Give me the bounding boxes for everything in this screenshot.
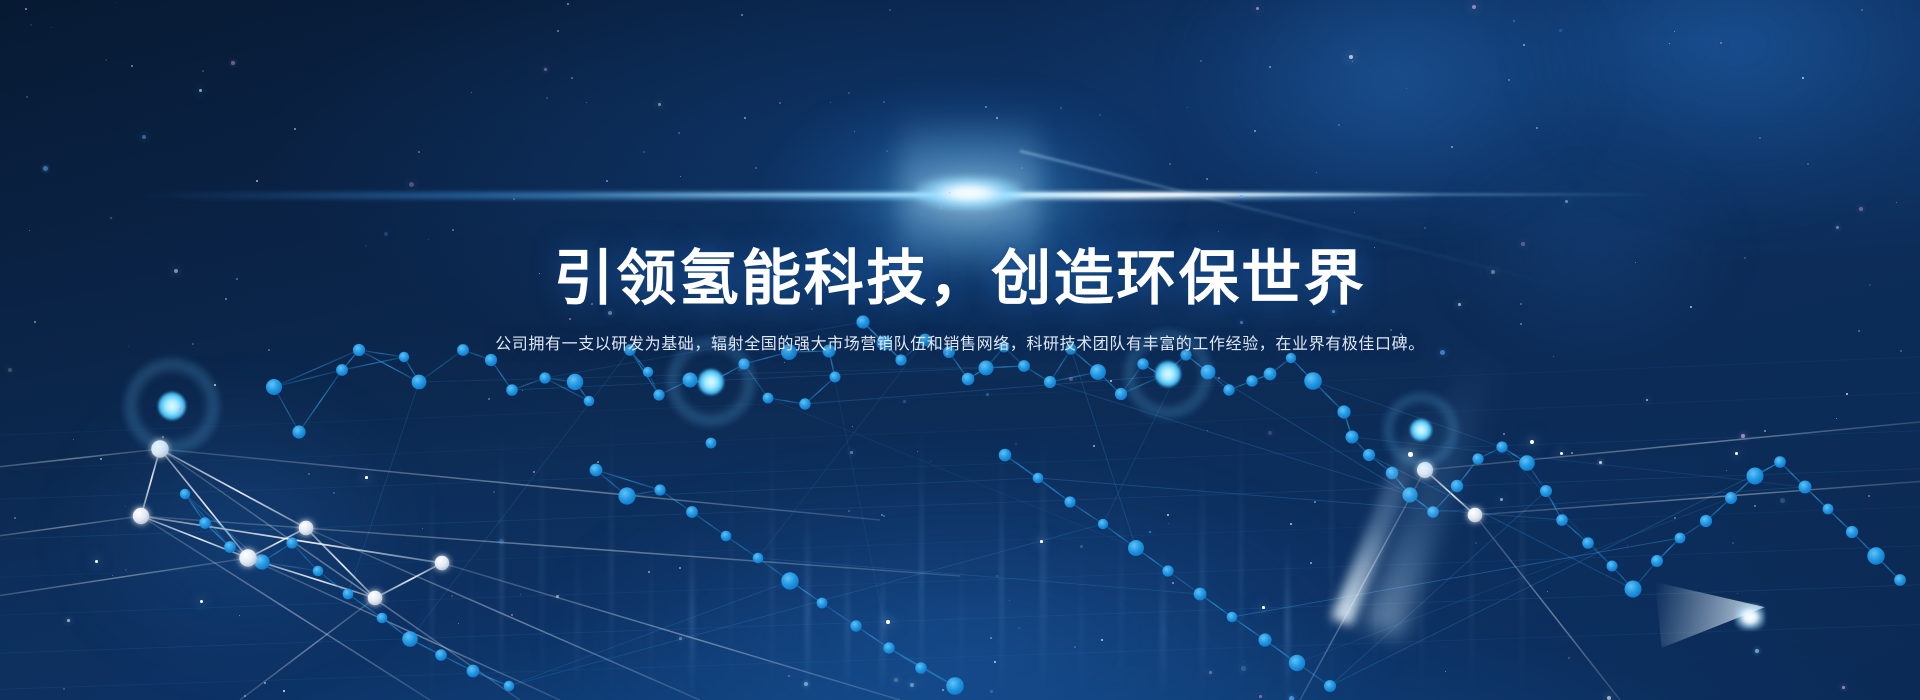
light-ray (770, 419, 774, 700)
flare-core (916, 176, 1022, 210)
particle-speck (1869, 284, 1871, 286)
mesh-edge (185, 494, 205, 523)
mesh-edge (884, 343, 901, 360)
mesh-node-blue (999, 342, 1010, 353)
mesh-edge (0, 624, 1920, 690)
mesh-node-blue (1451, 480, 1463, 492)
mesh-edge (1344, 412, 1352, 437)
mesh-node-blue (643, 367, 653, 377)
mesh-node-blue (702, 378, 715, 391)
particle-speck (1900, 350, 1902, 352)
light-ray (1375, 483, 1377, 700)
particle-speck (1338, 124, 1340, 126)
mesh-node-blue (946, 677, 964, 695)
mesh-edge (1330, 462, 1780, 686)
particle-speck (1216, 288, 1218, 290)
mesh-node-blue (1700, 515, 1712, 527)
particle-speck (1520, 323, 1522, 325)
mesh-edge (205, 523, 230, 547)
particle-speck (1491, 270, 1495, 274)
mesh-node-blue (1556, 514, 1568, 526)
mesh-edge (1657, 538, 1680, 561)
particle-speck (567, 3, 569, 5)
mesh-edge (692, 512, 726, 536)
mesh-node-blue (1201, 365, 1216, 380)
mesh-edge (512, 378, 545, 390)
comet-tail-outer (1363, 343, 1503, 639)
particle-speck (499, 539, 504, 544)
mesh-node-blue (1472, 453, 1483, 464)
mesh-node-blue (590, 464, 603, 477)
mesh-edge (0, 449, 160, 470)
mesh-node-blue (1044, 376, 1056, 388)
mesh-node-blue (999, 449, 1012, 462)
mesh-edge (0, 558, 248, 600)
mesh-edge (274, 387, 299, 432)
particle-speck (1290, 523, 1292, 525)
mesh-node-white (1417, 462, 1433, 478)
mesh-node-blue (1386, 467, 1399, 480)
mesh-node-blue (781, 572, 798, 589)
particle-speck (738, 367, 742, 371)
mesh-edge (630, 350, 659, 395)
glow-node-halo (123, 357, 221, 455)
mesh-node-blue (1823, 504, 1834, 515)
network-mesh-graphic (0, 0, 1920, 700)
particle-speck (784, 362, 785, 363)
mesh-edge (0, 545, 1920, 616)
particle-speck (1343, 254, 1345, 256)
page-subtitle: 公司拥有一支以研发为基础，辐射全国的强大市场营销队伍和销售网络，科研技术团队有丰… (0, 334, 1920, 356)
mesh-edge (925, 340, 949, 352)
particle-speck (1200, 60, 1202, 62)
mesh-node-white (435, 556, 449, 570)
particle-speck (1674, 31, 1675, 32)
mesh-node-blue (962, 373, 975, 386)
mesh-edge (768, 398, 1136, 548)
particle-speck (544, 68, 547, 71)
light-ray (880, 554, 885, 700)
mesh-edge (758, 558, 1200, 594)
mesh-node-blue (721, 531, 732, 542)
particle-speck (25, 8, 27, 10)
mesh-node-blue (1223, 384, 1234, 395)
particle-speck (513, 198, 515, 200)
particle-speck (850, 451, 853, 454)
particle-speck (678, 132, 680, 134)
mesh-node-blue (506, 384, 518, 396)
glow-node-halo (666, 337, 757, 428)
light-ray (1470, 482, 1473, 700)
mesh-edge (627, 490, 660, 496)
mesh-edge (348, 382, 419, 594)
mesh-edge (1352, 437, 1369, 455)
banner-copy: 引领氢能科技，创造环保世界 公司拥有一支以研发为基础，辐射全国的强大市场营销队伍… (0, 0, 1920, 700)
particle-speck (1268, 431, 1272, 435)
mesh-edge (1291, 358, 1313, 381)
mesh-node-blue (1162, 565, 1173, 576)
bright-star (1530, 440, 1534, 444)
particle-speck (1764, 430, 1766, 432)
mesh-edge (1330, 491, 1546, 686)
mesh-edge (274, 350, 359, 387)
particle-speck (8, 368, 12, 372)
mesh-node-blue (504, 681, 515, 692)
particle-speck (606, 180, 608, 182)
light-ray (1000, 444, 1003, 700)
mesh-edge (648, 372, 659, 395)
mesh-node-blue (1090, 364, 1106, 380)
mesh-edge (441, 655, 473, 671)
mesh-node-blue (1064, 496, 1075, 507)
mesh-node-white (151, 440, 168, 457)
particle-speck (848, 92, 850, 94)
particle-speck (1093, 445, 1095, 447)
mesh-edge (1369, 455, 1633, 589)
glow-node (1123, 329, 1214, 420)
bright-star (1262, 606, 1265, 609)
mesh-node-blue (915, 662, 927, 674)
mesh-edge (659, 380, 690, 395)
mesh-node-blue (943, 346, 955, 358)
mesh-edge (306, 528, 375, 598)
mesh-edge (805, 377, 835, 404)
mesh-edge (726, 536, 758, 558)
particle-speck (418, 151, 420, 153)
light-ray (1080, 544, 1083, 700)
mesh-edge (856, 626, 889, 648)
mesh-edge (509, 581, 790, 686)
particle-speck (1868, 495, 1870, 497)
particle-speck (1565, 200, 1568, 203)
particle-speck (811, 308, 813, 310)
mesh-node-blue (224, 541, 236, 553)
light-ray (1120, 478, 1123, 700)
particle-speck (493, 491, 495, 493)
flare-vertical-spike (900, 110, 1040, 280)
particle-speck (1069, 377, 1073, 381)
mesh-node-blue (266, 379, 282, 395)
mesh-edge (1313, 381, 1344, 412)
mesh-node-blue (919, 334, 932, 347)
particle-speck (1568, 657, 1570, 659)
glow-node-core (1155, 361, 1181, 387)
mesh-edge (1546, 491, 1562, 520)
particle-speck (1330, 611, 1331, 612)
particle-speck (990, 637, 992, 639)
mesh-edge (1433, 487, 1805, 512)
mesh-node-blue (584, 396, 595, 407)
particle-speck (1021, 167, 1023, 169)
light-ray (920, 424, 923, 700)
mesh-edge (410, 350, 630, 639)
mesh-edge (1828, 509, 1852, 532)
mesh-node-blue (1427, 506, 1439, 518)
particle-speck (452, 229, 454, 231)
mesh-edge (1121, 376, 1162, 394)
mesh-node-white (368, 591, 383, 606)
light-ray (650, 521, 652, 700)
particle-speck (162, 436, 164, 438)
particle-speck (917, 451, 918, 452)
page-title: 引领氢能科技，创造环保世界 (0, 249, 1920, 309)
mesh-edge (1527, 463, 1546, 491)
particle-speck (1169, 163, 1171, 165)
mesh-node-blue (1337, 405, 1350, 418)
mesh-node-blue (180, 489, 190, 499)
light-ray (610, 412, 613, 700)
particle-speck (1759, 137, 1761, 139)
particle-speck (986, 393, 989, 396)
mesh-edge (141, 516, 442, 563)
particle-speck (283, 690, 285, 692)
mesh-edge (630, 350, 648, 372)
mesh-edge (829, 351, 889, 648)
mesh-node-blue (1582, 537, 1594, 549)
mesh-edge (160, 449, 880, 520)
mesh-edge (359, 350, 419, 382)
particle-speck (1074, 646, 1076, 648)
mesh-edge (921, 668, 955, 686)
mesh-edge (758, 558, 790, 581)
mesh-edge (1300, 470, 1425, 700)
particle-speck (1349, 55, 1353, 59)
light-ray (730, 455, 732, 700)
particle-speck (128, 346, 129, 347)
mesh-edge (1755, 462, 1780, 476)
particle-speck (63, 688, 65, 690)
mesh-edge (1425, 470, 1475, 515)
light-ray (1160, 547, 1166, 700)
mesh-edge (1208, 372, 1410, 495)
particle-speck (131, 65, 133, 67)
mesh-edge (1706, 498, 1731, 521)
mesh-edge (473, 671, 509, 686)
mesh-edge (1475, 515, 1620, 700)
particle-speck (225, 298, 227, 300)
mesh-edge (240, 598, 375, 700)
particle-speck (236, 278, 238, 280)
glow-node (1383, 392, 1460, 469)
ambient-glow-blob (60, 380, 420, 680)
mesh-edge (0, 356, 1920, 436)
particle-speck (1896, 202, 1897, 203)
particle-speck (830, 102, 831, 103)
particle-speck (1521, 242, 1525, 246)
particle-speck (1559, 29, 1562, 32)
particle-speck (488, 398, 490, 400)
mesh-node-blue (1194, 588, 1207, 601)
particle-speck (1500, 498, 1503, 501)
particle-speck (1571, 452, 1573, 454)
particle-speck (608, 311, 612, 315)
mesh-edge (274, 370, 342, 387)
mesh-edge (0, 506, 1920, 578)
flare-streak-thin (560, 193, 1660, 196)
particle-speck (264, 682, 266, 684)
mesh-node-blue (467, 665, 480, 678)
particle-speck (1209, 671, 1212, 674)
mesh-edge (901, 340, 925, 360)
mesh-edge (141, 516, 960, 576)
mesh-node-blue (377, 613, 388, 624)
mesh-node-blue (1137, 358, 1148, 369)
mesh-node-blue (1324, 680, 1336, 692)
particle-speck (1523, 44, 1525, 46)
mesh-edge (375, 563, 442, 598)
particle-speck (51, 27, 52, 28)
particle-speck (268, 349, 270, 351)
bright-star (95, 560, 98, 563)
particle-speck (1646, 399, 1648, 401)
particle-speck (73, 439, 74, 440)
flare-streak-wide (140, 192, 1440, 199)
mesh-edge (596, 470, 627, 496)
particle-speck (1744, 257, 1746, 259)
mesh-node-blue (763, 393, 774, 404)
mesh-node-blue (1894, 574, 1906, 586)
mesh-node-blue (353, 344, 365, 356)
particle-speck (1737, 593, 1738, 594)
mesh-node-blue (343, 589, 354, 600)
particle-speck (1390, 329, 1392, 331)
mesh-node-white (133, 508, 149, 524)
mesh-node-blue (1304, 372, 1322, 390)
mesh-edge (744, 352, 789, 364)
mesh-edge (627, 478, 1038, 496)
mesh-node-blue (618, 487, 635, 504)
particle-speck (1149, 531, 1151, 533)
light-ray (1285, 539, 1290, 700)
particle-speck (933, 297, 934, 298)
light-ray (960, 523, 963, 700)
mesh-edge (442, 563, 900, 700)
particle-speck (256, 180, 258, 182)
mesh-node-blue (979, 361, 994, 376)
particle-speck (1458, 303, 1461, 306)
mesh-edge (185, 494, 230, 547)
particle-speck (1475, 542, 1477, 544)
particle-speck (883, 101, 885, 103)
mesh-edge (160, 449, 306, 528)
mesh-edge (248, 528, 306, 558)
mesh-edge (1098, 372, 1121, 394)
particle-speck (1802, 77, 1804, 79)
mesh-node-blue (313, 566, 324, 577)
particle-speck (1240, 321, 1243, 324)
particle-speck (957, 195, 958, 196)
mesh-node-blue (399, 352, 409, 362)
glow-node-core (158, 392, 186, 420)
mesh-node-blue (895, 354, 906, 365)
mesh-node-blue (1227, 612, 1238, 623)
mesh-node-blue (199, 517, 211, 529)
light-ray (805, 503, 810, 700)
mesh-edge (185, 494, 262, 562)
mesh-node-blue (412, 375, 427, 390)
mesh-edge (1270, 358, 1291, 374)
mesh-edge (1121, 364, 1143, 394)
mesh-edge (491, 360, 512, 390)
mesh-node-blue (485, 354, 497, 366)
particle-speck (1406, 88, 1407, 89)
mesh-edge (382, 618, 410, 639)
mesh-edge (1103, 355, 1186, 524)
mesh-edge (1038, 478, 1562, 520)
mesh-node-blue (567, 374, 583, 390)
particle-speck (1858, 330, 1860, 332)
mesh-edge (1852, 532, 1876, 556)
particle-speck (239, 615, 240, 616)
mesh-edge (0, 516, 141, 540)
mesh-node-blue (1402, 487, 1417, 502)
particle-speck (1332, 310, 1335, 313)
mesh-node-blue (1799, 481, 1812, 494)
glow-node-halo (1123, 329, 1214, 420)
mesh-node-blue (286, 537, 297, 548)
mesh-edge (299, 370, 342, 432)
mesh-node-blue (1128, 540, 1144, 556)
mesh-edge (744, 364, 768, 398)
particle-speck (1172, 582, 1174, 584)
particle-speck (1599, 461, 1602, 464)
mesh-edge (1200, 594, 1232, 617)
mesh-edge (463, 350, 491, 360)
particle-speck (30, 24, 32, 26)
particle-speck (1400, 333, 1402, 335)
mesh-edge (1136, 548, 1168, 571)
particle-speck (648, 571, 650, 573)
mesh-node-blue (1289, 655, 1305, 671)
particle-speck (1627, 545, 1628, 546)
mesh-edge (292, 543, 318, 571)
particle-speck (1472, 5, 1476, 9)
ambient-glow-blob (560, 470, 1380, 700)
particle-speck (881, 514, 883, 516)
mesh-edge (0, 392, 1920, 470)
particle-speck (112, 575, 113, 576)
particle-speck (1167, 514, 1169, 516)
mesh-node-blue (753, 553, 764, 564)
particle-speck (546, 97, 548, 99)
mesh-edge (318, 571, 348, 594)
light-ray (1040, 436, 1046, 700)
particle-speck (458, 623, 459, 624)
mesh-node-blue (738, 358, 749, 369)
mesh-edge (889, 648, 955, 686)
mesh-edge (1780, 462, 1805, 487)
mesh-edge (789, 351, 829, 352)
mesh-node-blue (1519, 455, 1535, 471)
mesh-node-blue (539, 372, 550, 383)
particle-speck (848, 510, 850, 512)
mesh-node-blue (1346, 431, 1359, 444)
mesh-edge (949, 352, 968, 379)
particle-speck (985, 106, 987, 108)
mesh-node-blue (1540, 485, 1552, 497)
mesh-node-blue (877, 336, 892, 351)
mesh-node-blue (292, 425, 305, 438)
mesh-edge (306, 528, 700, 700)
light-ray (575, 541, 580, 700)
mesh-edge (1876, 556, 1900, 580)
particle-speck (1754, 505, 1756, 507)
mesh-edge (1071, 349, 1136, 548)
particle-speck (1110, 380, 1112, 382)
mesh-edge (1071, 349, 1098, 372)
glow-node-core (698, 369, 724, 395)
mesh-edge (1297, 663, 1330, 686)
